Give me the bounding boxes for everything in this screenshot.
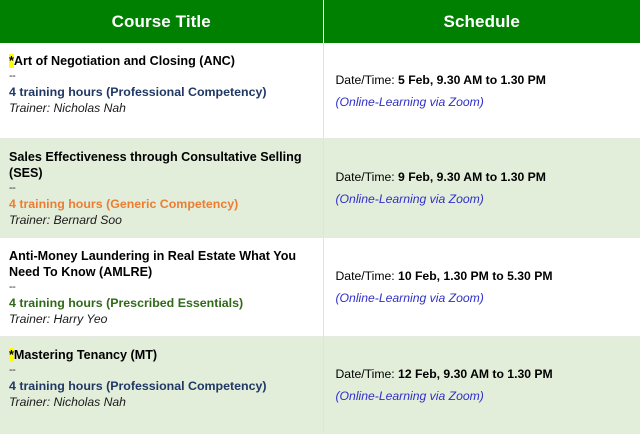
column-header-course-title: Course Title [0,0,323,43]
separator-dashes: -- [9,71,314,82]
course-name-text: Anti-Money Laundering in Real Estate Wha… [9,249,296,279]
course-name: Sales Effectiveness through Consultative… [9,149,314,182]
schedule-label: Date/Time: [336,73,395,87]
schedule-cell: Date/Time: 5 Feb, 9.30 AM to 1.30 PM (On… [323,43,640,138]
table-body: *Art of Negotiation and Closing (ANC) --… [0,43,640,433]
training-hours: 4 training hours (Generic Competency) [9,197,314,213]
schedule-value: 12 Feb, 9.30 AM to 1.30 PM [398,367,553,381]
course-title-cell: Anti-Money Laundering in Real Estate Wha… [0,237,323,336]
course-title-cell: *Mastering Tenancy (MT) -- 4 training ho… [0,336,323,433]
trainer-name: Trainer: Harry Yeo [9,312,314,328]
trainer-name: Trainer: Bernard Soo [9,213,314,229]
training-hours: 4 training hours (Professional Competenc… [9,379,314,395]
separator-dashes: -- [9,183,314,194]
training-hours: 4 training hours (Prescribed Essentials) [9,296,314,312]
schedule-value: 5 Feb, 9.30 AM to 1.30 PM [398,73,546,87]
course-schedule-table: Course Title Schedule *Art of Negotiatio… [0,0,640,434]
separator-dashes: -- [9,282,314,293]
table-row: *Mastering Tenancy (MT) -- 4 training ho… [0,336,640,433]
delivery-mode: (Online-Learning via Zoom) [336,95,632,111]
schedule-cell: Date/Time: 10 Feb, 1.30 PM to 5.30 PM (O… [323,237,640,336]
schedule-datetime: Date/Time: 5 Feb, 9.30 AM to 1.30 PM [336,72,632,88]
delivery-mode: (Online-Learning via Zoom) [336,389,632,405]
schedule-label: Date/Time: [336,269,395,283]
table-header: Course Title Schedule [0,0,640,43]
column-header-schedule: Schedule [323,0,640,43]
schedule-value: 9 Feb, 9.30 AM to 1.30 PM [398,170,546,184]
delivery-mode: (Online-Learning via Zoom) [336,291,632,307]
schedule-cell: Date/Time: 9 Feb, 9.30 AM to 1.30 PM (On… [323,138,640,237]
schedule-datetime: Date/Time: 10 Feb, 1.30 PM to 5.30 PM [336,268,632,284]
course-name: Anti-Money Laundering in Real Estate Wha… [9,248,314,281]
trainer-name: Trainer: Nicholas Nah [9,101,314,117]
schedule-value: 10 Feb, 1.30 PM to 5.30 PM [398,269,552,283]
schedule-cell: Date/Time: 12 Feb, 9.30 AM to 1.30 PM (O… [323,336,640,433]
table-row: Anti-Money Laundering in Real Estate Wha… [0,237,640,336]
course-name-text: Sales Effectiveness through Consultative… [9,150,302,180]
course-title-cell: Sales Effectiveness through Consultative… [0,138,323,237]
course-name: *Mastering Tenancy (MT) [9,347,314,363]
course-name-text: Art of Negotiation and Closing (ANC) [14,54,235,68]
course-name-text: Mastering Tenancy (MT) [14,348,157,362]
trainer-name: Trainer: Nicholas Nah [9,395,314,411]
schedule-label: Date/Time: [336,170,395,184]
course-title-cell: *Art of Negotiation and Closing (ANC) --… [0,43,323,138]
course-name: *Art of Negotiation and Closing (ANC) [9,53,314,69]
delivery-mode: (Online-Learning via Zoom) [336,192,632,208]
training-hours: 4 training hours (Professional Competenc… [9,85,314,101]
schedule-datetime: Date/Time: 12 Feb, 9.30 AM to 1.30 PM [336,366,632,382]
table-row: *Art of Negotiation and Closing (ANC) --… [0,43,640,138]
separator-dashes: -- [9,365,314,376]
schedule-datetime: Date/Time: 9 Feb, 9.30 AM to 1.30 PM [336,169,632,185]
table-row: Sales Effectiveness through Consultative… [0,138,640,237]
table-header-row: Course Title Schedule [0,0,640,43]
schedule-label: Date/Time: [336,367,395,381]
